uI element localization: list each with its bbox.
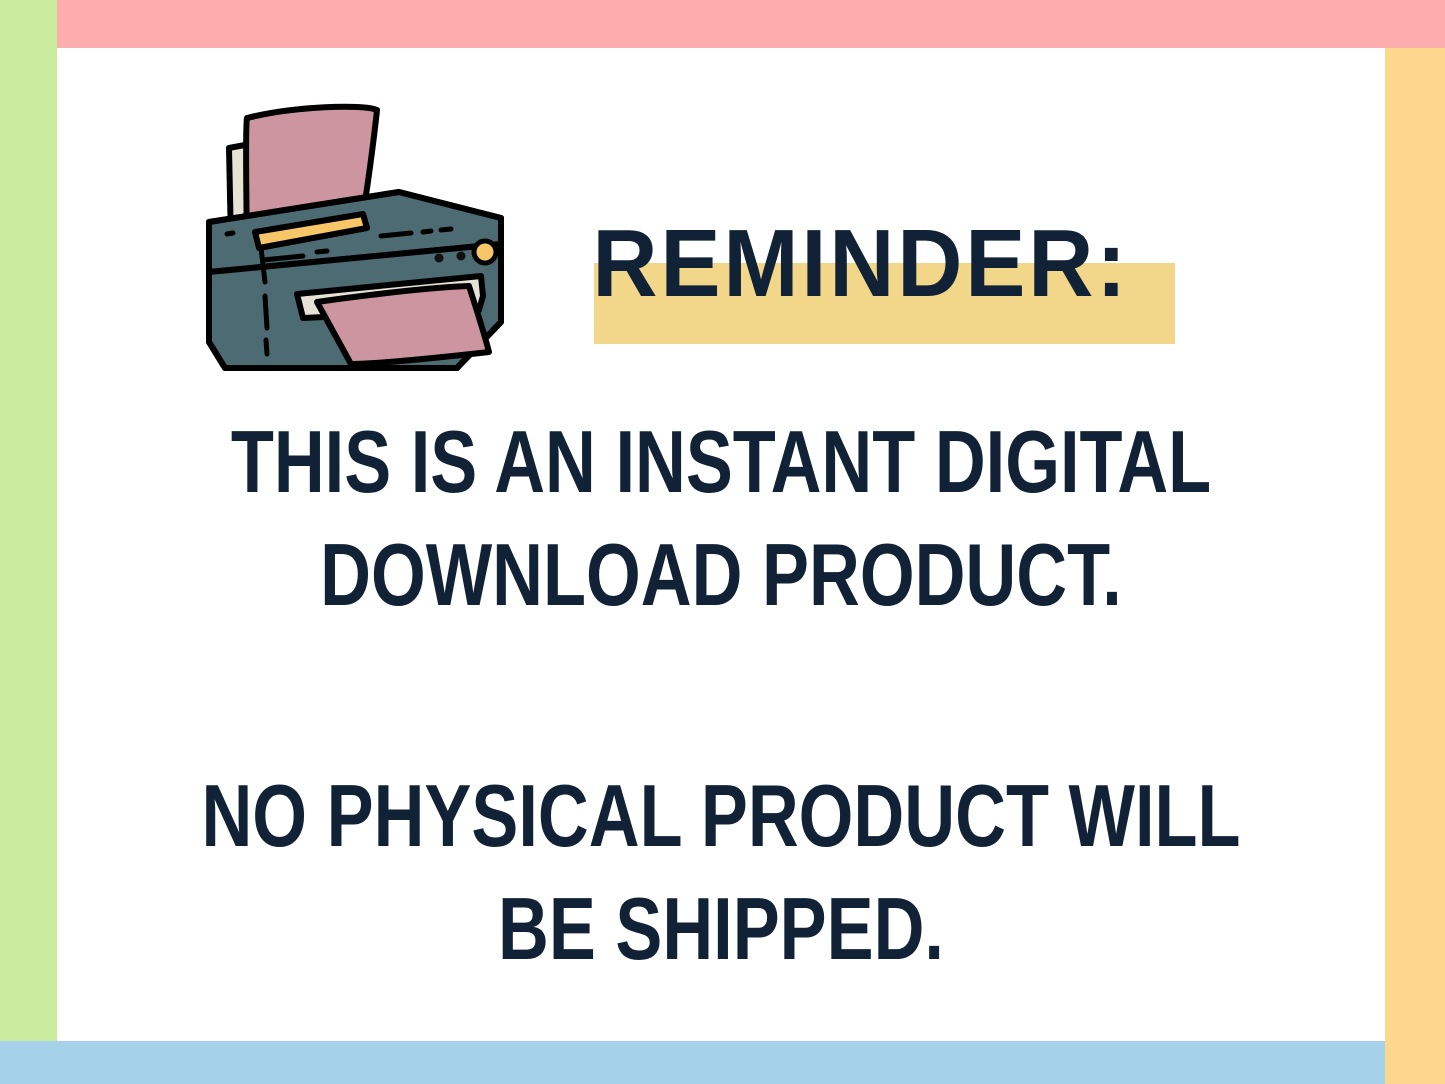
printer-icon <box>185 96 535 376</box>
paragraph-line: BE SHIPPED. <box>190 872 1252 985</box>
printer-power-button <box>474 241 496 263</box>
paragraph-no-physical-product: NO PHYSICAL PRODUCT WILL BE SHIPPED. <box>190 759 1252 985</box>
paragraph-line: THIS IS AN INSTANT DIGITAL <box>190 405 1252 518</box>
printer-indicator-dot <box>435 254 444 263</box>
blue-band <box>0 1041 1385 1084</box>
pink-band <box>57 0 1445 48</box>
printer-indicator-dot <box>457 252 466 261</box>
body-copy: THIS IS AN INSTANT DIGITAL DOWNLOAD PROD… <box>57 405 1385 985</box>
green-band <box>0 0 57 1041</box>
paragraph-line: NO PHYSICAL PRODUCT WILL <box>190 759 1252 872</box>
paragraph-instant-download: THIS IS AN INSTANT DIGITAL DOWNLOAD PROD… <box>190 405 1252 631</box>
paragraph-line: DOWNLOAD PRODUCT. <box>190 518 1252 631</box>
yellow-band <box>1385 48 1445 1084</box>
heading-block: REMINDER: <box>560 210 1260 360</box>
poster-canvas: REMINDER: THIS IS AN INSTANT DIGITAL DOW… <box>0 0 1445 1084</box>
page-title: REMINDER: <box>560 210 1162 318</box>
